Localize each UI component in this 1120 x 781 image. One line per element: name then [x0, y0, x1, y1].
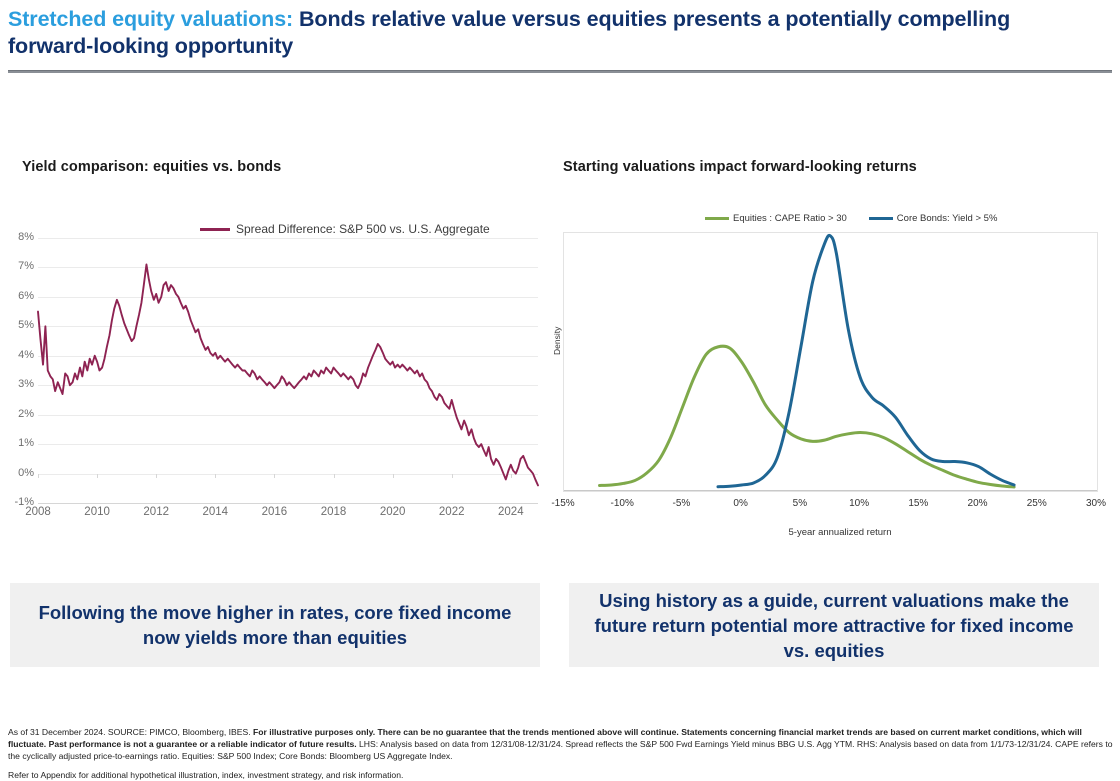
footnote-source: As of 31 December 2024. SOURCE: PIMCO, B…: [8, 727, 253, 737]
legend-item-equities: Equities : CAPE Ratio > 30: [705, 213, 847, 224]
right-chart-x-axis-label: 5-year annualized return: [560, 527, 1120, 538]
right-chart-density-series: [564, 233, 1097, 491]
yield-spread-chart: Spread Difference: S&P 500 vs. U.S. Aggr…: [0, 205, 560, 535]
legend-label-equities: Equities : CAPE Ratio > 30: [733, 213, 847, 224]
right-chart-x-tick: 25%: [1012, 498, 1062, 509]
legend-item-core-bonds: Core Bonds: Yield > 5%: [869, 213, 998, 224]
legend-swatch-equities: [705, 217, 729, 220]
left-chart-x-tick: 2018: [304, 506, 364, 518]
right-chart-x-tick: 10%: [834, 498, 884, 509]
footnote: As of 31 December 2024. SOURCE: PIMCO, B…: [8, 726, 1118, 781]
footnote-appendix: Refer to Appendix for additional hypothe…: [8, 769, 1118, 781]
right-chart-x-tick: 30%: [1071, 498, 1120, 509]
right-chart-x-tick: 5%: [775, 498, 825, 509]
left-chart-y-tick: 0%: [0, 467, 34, 479]
legend-swatch-spread: [200, 228, 230, 231]
right-chart-title: Starting valuations impact forward-looki…: [563, 159, 917, 175]
left-chart-x-tick: 2012: [126, 506, 186, 518]
left-chart-legend: Spread Difference: S&P 500 vs. U.S. Aggr…: [200, 222, 490, 236]
left-chart-y-tick: 3%: [0, 378, 34, 390]
forward-return-density-chart: Equities : CAPE Ratio > 30 Core Bonds: Y…: [560, 205, 1120, 535]
left-chart-x-tick: 2020: [363, 506, 423, 518]
right-chart-legend: Equities : CAPE Ratio > 30 Core Bonds: Y…: [705, 213, 997, 224]
right-chart-axis-line: [564, 490, 1097, 491]
left-chart-y-tick: 1%: [0, 437, 34, 449]
right-chart-x-tick: 15%: [893, 498, 943, 509]
left-chart-y-tick: 4%: [0, 349, 34, 361]
right-chart-x-tick: -10%: [597, 498, 647, 509]
left-chart-x-tick: 2008: [8, 506, 68, 518]
core-bonds-density-line: [718, 235, 1014, 486]
legend-swatch-core-bonds: [869, 217, 893, 220]
left-chart-title: Yield comparison: equities vs. bonds: [22, 159, 281, 175]
right-chart-x-tick: 0%: [716, 498, 766, 509]
page-title-lead: Stretched equity valuations:: [8, 7, 293, 31]
right-chart-plot: [563, 232, 1098, 492]
left-chart-x-tick: 2014: [185, 506, 245, 518]
left-chart-x-tick: 2016: [244, 506, 304, 518]
left-chart-y-tick: 8%: [0, 231, 34, 243]
right-chart-x-tick: 20%: [953, 498, 1003, 509]
slide-header: Stretched equity valuations: Bonds relat…: [0, 0, 1120, 78]
left-chart-gridline: [38, 503, 538, 504]
left-chart-plot: 8%7%6%5%4%3%2%1%0%-1% 200820102012201420…: [38, 238, 538, 503]
callout-right: Using history as a guide, current valuat…: [569, 583, 1099, 667]
left-chart-y-tick: 6%: [0, 290, 34, 302]
right-chart-y-axis-label: Density: [552, 327, 562, 355]
header-divider: [8, 70, 1112, 73]
legend-label-spread: Spread Difference: S&P 500 vs. U.S. Aggr…: [236, 222, 490, 236]
left-chart-line-series: [38, 238, 538, 503]
left-chart-y-tick: 5%: [0, 319, 34, 331]
callout-left: Following the move higher in rates, core…: [10, 583, 540, 667]
page-title: Stretched equity valuations: Bonds relat…: [8, 6, 1098, 60]
left-chart-x-tick: 2024: [481, 506, 541, 518]
right-chart-x-tick: -5%: [656, 498, 706, 509]
left-chart-x-tick: 2022: [422, 506, 482, 518]
spread-difference-line: [38, 265, 538, 486]
left-chart-x-tick: 2010: [67, 506, 127, 518]
legend-label-core-bonds: Core Bonds: Yield > 5%: [897, 213, 998, 224]
left-chart-y-tick: 2%: [0, 408, 34, 420]
equities-density-line: [600, 346, 1015, 487]
right-chart-x-tick: -15%: [538, 498, 588, 509]
left-chart-y-tick: 7%: [0, 260, 34, 272]
